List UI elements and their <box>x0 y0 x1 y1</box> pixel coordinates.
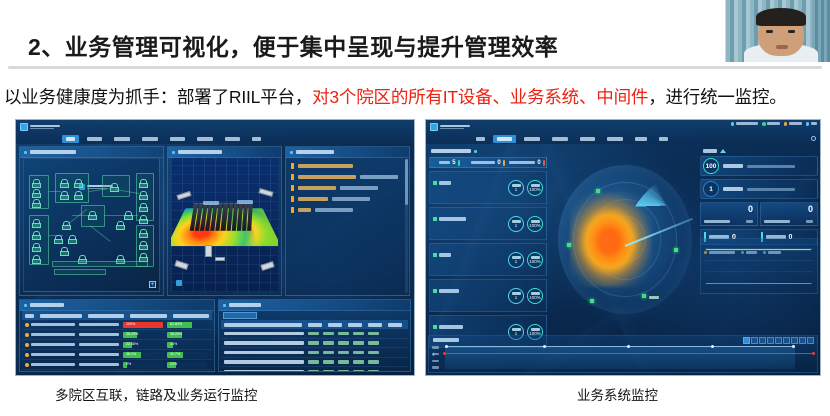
nav-item-4[interactable] <box>576 135 600 143</box>
timeline-tool-button[interactable] <box>799 337 806 344</box>
brand-mark-icon <box>430 123 438 131</box>
table-header <box>22 311 212 320</box>
badge-label <box>531 328 540 331</box>
badge-label <box>512 184 521 187</box>
bar-value: 61.84% <box>170 322 182 327</box>
memory-usage-bar: 61.84% <box>167 322 207 328</box>
link-load-table[interactable]: 100%61.84%36.29%38.20%22.68%14%46.1%41.7… <box>22 311 212 369</box>
bar-value: 36.29% <box>126 332 138 337</box>
nav-item-label <box>87 137 103 141</box>
timeline-tool-button[interactable] <box>743 337 750 344</box>
response-badge[interactable]: 100% <box>527 288 543 304</box>
cell-metric <box>323 370 334 373</box>
panel-dot-icon <box>24 304 27 307</box>
column-header <box>388 323 402 327</box>
cpu-usage-bar: 36.29% <box>123 332 163 338</box>
panel-title <box>296 150 334 154</box>
business-name <box>439 181 451 185</box>
bar-value: 23% <box>170 362 177 367</box>
brand-logo <box>20 123 60 131</box>
radar-node[interactable] <box>590 299 594 303</box>
topbar-action-label <box>811 122 817 125</box>
bar-value: 100% <box>126 322 135 327</box>
alert-row[interactable] <box>291 182 404 193</box>
body-text-prefix: 以业务健康度为抓手：部署了RIIL平台， <box>4 87 312 107</box>
topbar-action-1[interactable] <box>762 122 780 126</box>
nav-item-label <box>607 137 623 141</box>
cell-source <box>31 363 75 367</box>
total-label <box>704 220 730 224</box>
health-badge[interactable]: 1 <box>508 288 524 304</box>
view-control-button[interactable] <box>176 280 182 286</box>
column-header <box>348 323 362 327</box>
cell-destination <box>79 353 119 357</box>
score-row: 100 <box>700 156 818 176</box>
cell-metric <box>323 360 334 364</box>
list-toggle-icon[interactable] <box>474 150 477 153</box>
business-name <box>439 217 466 221</box>
radar-node[interactable] <box>674 248 678 252</box>
nav-item-label <box>66 137 75 141</box>
radar-node[interactable] <box>596 189 600 193</box>
bar-value: 38.20% <box>170 332 182 337</box>
timeline-tool-button[interactable] <box>791 337 798 344</box>
topbar-action-3[interactable] <box>806 122 817 126</box>
radar-node-label <box>649 296 659 299</box>
nav-item-label <box>170 137 186 141</box>
caption-left: 多院区互联，链路及业务运行监控 <box>55 384 258 404</box>
cell-metric <box>308 370 319 373</box>
nav-item-label <box>524 137 540 141</box>
status-square-icon <box>433 181 437 185</box>
panel-title <box>178 150 222 154</box>
timeline-tool-button[interactable] <box>807 337 814 344</box>
badge-label <box>531 292 540 295</box>
table-row[interactable]: 31.63%52% <box>22 370 212 372</box>
status-square-icon <box>433 325 437 329</box>
cell-source <box>31 343 75 347</box>
topbar-action-0[interactable] <box>731 122 758 126</box>
nav-item-5[interactable] <box>603 135 627 143</box>
panel-header <box>20 300 214 311</box>
badge-value: 1 <box>515 260 518 265</box>
table-row[interactable]: 22.68%14% <box>22 340 212 350</box>
bar-value: 22.68% <box>126 342 138 347</box>
right-dashboard-nav[interactable] <box>472 135 672 143</box>
cell-metric <box>353 370 364 373</box>
link-load-table-panel: 100%61.84%36.29%38.20%22.68%14%46.1%41.7… <box>19 299 215 372</box>
stat-indicator <box>503 160 505 166</box>
column-header <box>88 314 124 318</box>
cell-metric <box>338 370 349 373</box>
business-name <box>439 253 451 257</box>
panel-dot-icon <box>290 151 293 154</box>
table-row[interactable]: 46.1%41.7% <box>22 350 212 360</box>
topbar-action-2[interactable] <box>784 122 802 126</box>
alert-ip <box>315 208 353 212</box>
radar-node[interactable] <box>567 243 571 247</box>
business-detail-panel: 1001 00 00 <box>700 146 818 333</box>
bell-icon <box>762 122 766 126</box>
cabinet-unit <box>215 257 225 261</box>
status-dot-icon <box>25 363 29 367</box>
timeline-tool-button[interactable] <box>751 337 758 344</box>
status-square-icon <box>433 289 437 293</box>
panel-dot-icon <box>223 304 226 307</box>
badge-label <box>531 220 540 223</box>
nav-item-6[interactable] <box>221 135 245 143</box>
total-value: 0 <box>808 205 813 214</box>
alert-list[interactable] <box>288 158 407 293</box>
cell-port-name <box>224 332 304 336</box>
health-badge[interactable]: 1 <box>508 180 524 196</box>
nav-item-7[interactable] <box>655 135 672 143</box>
alert-text <box>298 175 356 179</box>
stat-label <box>471 161 495 165</box>
cell-metric <box>338 341 349 345</box>
panel-dot-icon <box>24 151 27 154</box>
gear-icon[interactable] <box>811 136 816 141</box>
detail-title <box>703 149 717 153</box>
user-icon <box>731 122 735 126</box>
table-row[interactable] <box>221 358 408 368</box>
business-name <box>439 289 459 293</box>
badge-value: 100% <box>529 260 541 265</box>
cpu-usage-bar: 100% <box>123 322 163 328</box>
badge-label <box>531 256 540 259</box>
filter-dropdown[interactable] <box>223 312 257 319</box>
panel-dot-icon <box>172 151 175 154</box>
presenter-mouth <box>776 45 788 49</box>
cell-port-name <box>224 341 304 345</box>
timeline-tool-button[interactable] <box>759 337 766 344</box>
alert-text <box>298 186 336 190</box>
cell-destination <box>79 363 119 367</box>
datacenter-3d-canvas[interactable] <box>171 158 278 292</box>
left-dashboard-screenshot: + <box>15 119 415 376</box>
nav-item-3[interactable] <box>548 135 572 143</box>
radar-node[interactable] <box>642 294 646 298</box>
latest-alerts-panel <box>285 146 410 296</box>
badge-label <box>512 328 521 331</box>
cell-metric <box>323 332 334 336</box>
detail-title-row <box>700 146 818 156</box>
table-header <box>221 320 408 329</box>
presenter-eye-right <box>788 30 795 33</box>
total-label <box>764 220 790 224</box>
cell-metric <box>353 351 364 355</box>
right-dashboard-screenshot: 500 1100%1100%1100%1100%1100% 1001 00 0 <box>425 119 821 376</box>
rack-label <box>237 200 253 204</box>
bar-fill <box>167 372 188 373</box>
cell-destination <box>79 343 119 347</box>
cell-port-name <box>224 351 304 355</box>
business-list-item[interactable]: 1100% <box>429 243 547 276</box>
panel-title <box>229 303 261 307</box>
nav-item-label <box>552 137 568 141</box>
memory-usage-bar: 38.20% <box>167 332 207 338</box>
cell-metric <box>368 351 379 355</box>
table-row[interactable] <box>221 367 408 372</box>
badge-value: 1 <box>515 224 518 229</box>
total-unit <box>806 220 813 223</box>
nav-item-2[interactable] <box>110 135 134 143</box>
brand-wordmark <box>30 125 60 130</box>
badge-label <box>512 292 521 295</box>
radar-gauge <box>549 155 701 325</box>
badge-value: 1 <box>515 296 518 301</box>
nav-item-label <box>497 137 513 141</box>
cpu-usage-bar: 9% <box>123 362 163 368</box>
nav-item-label <box>142 137 158 141</box>
presenter-video-overlay <box>725 0 830 62</box>
topbar-action-label <box>736 122 758 125</box>
presenter-hair <box>756 8 806 26</box>
rack-label <box>203 201 219 205</box>
cell-metric <box>353 332 364 336</box>
chevron-left-icon[interactable]: ‹ <box>432 350 435 359</box>
badge-label <box>512 256 521 259</box>
network-topology-panel: + <box>19 146 164 296</box>
status-stat-1[interactable]: 0 <box>469 160 508 166</box>
status-dot-icon <box>25 323 29 327</box>
cell-metric <box>323 351 334 355</box>
body-text-suffix: ，进行统一监控。 <box>648 87 786 107</box>
total-unit <box>746 220 753 223</box>
biz-list-title <box>431 149 471 153</box>
score-label <box>723 187 743 191</box>
stat-label <box>439 161 450 165</box>
severity-icon <box>291 196 294 202</box>
business-monitor-list-panel: 500 1100%1100%1100%1100%1100% <box>429 146 547 333</box>
cell-metric <box>323 341 334 345</box>
total-card: 0 <box>760 202 818 226</box>
memory-usage-bar: 52% <box>167 372 207 373</box>
health-badge[interactable]: 1 <box>508 252 524 268</box>
performance-timeline-panel[interactable]: ‹ <box>428 335 818 373</box>
badge-value: 100% <box>529 188 541 193</box>
nav-item-3[interactable] <box>138 135 162 143</box>
status-square-icon <box>433 253 437 257</box>
alerts-scrollbar[interactable] <box>405 159 408 293</box>
severity-icon <box>291 163 294 169</box>
timeline-plot[interactable] <box>445 346 795 369</box>
table-filter-row[interactable] <box>221 311 408 320</box>
table-row[interactable]: 100%61.84% <box>22 320 212 330</box>
score-label <box>723 164 743 168</box>
bar-value: 41.7% <box>170 352 180 357</box>
server-racks <box>190 203 253 231</box>
nav-item-6[interactable] <box>631 135 651 143</box>
column-header <box>40 314 82 318</box>
business-list-item[interactable]: 1100% <box>429 207 547 240</box>
column-header <box>308 323 322 327</box>
topbar-user-actions[interactable] <box>731 122 817 126</box>
alert-text <box>298 197 328 201</box>
cell-metric <box>338 351 349 355</box>
topology-zoom-in-button[interactable]: + <box>149 281 156 288</box>
cell-port-name <box>224 370 304 373</box>
topbar-action-label <box>789 122 802 125</box>
status-summary-bar[interactable]: 500 <box>429 157 547 168</box>
panel-header <box>168 147 281 158</box>
cell-source <box>31 333 75 337</box>
score-description <box>747 165 795 168</box>
nav-item-label <box>476 137 485 141</box>
column-header <box>224 323 302 327</box>
timeline-title <box>433 338 459 342</box>
business-list-item[interactable]: 1100% <box>429 279 547 312</box>
stat-value: 0 <box>537 160 540 166</box>
business-items[interactable]: 1100%1100%1100%1100%1100% <box>429 171 547 348</box>
severity-icon <box>291 207 294 213</box>
nav-item-0[interactable] <box>62 135 79 143</box>
timeline-tool-button[interactable] <box>783 337 790 344</box>
cell-source <box>31 353 75 357</box>
port-traffic-table-panel <box>218 299 411 372</box>
score-rows: 1001 <box>700 156 818 199</box>
bar-value: 14% <box>170 342 177 347</box>
status-dot-icon <box>25 353 29 357</box>
brand-mark-icon <box>20 123 28 131</box>
column-header <box>368 323 382 327</box>
status-dot-icon <box>25 343 29 347</box>
nav-item-label <box>197 137 213 141</box>
status-square-icon <box>433 217 437 221</box>
alert-row[interactable] <box>291 171 404 182</box>
cabinet-unit <box>205 245 212 257</box>
response-badge[interactable]: 100% <box>527 180 543 196</box>
stat-indicator <box>543 160 545 166</box>
table-row[interactable] <box>221 329 408 339</box>
presenter-eye-left <box>766 30 773 33</box>
detail-sparkline <box>700 238 818 294</box>
topology-canvas[interactable]: + <box>23 158 160 292</box>
cell-metric <box>308 341 319 345</box>
column-header <box>328 323 342 327</box>
alert-row[interactable] <box>291 160 404 171</box>
page-title: 2、业务管理可视化，便于集中呈现与提升管理效率 <box>28 28 558 62</box>
total-value: 0 <box>748 205 753 214</box>
status-stat-2[interactable]: 0 <box>507 160 546 166</box>
cell-metric <box>353 341 364 345</box>
timeline-toolbar[interactable] <box>743 337 814 344</box>
panel-header <box>286 147 409 158</box>
left-dashboard-nav[interactable] <box>62 135 265 143</box>
datacenter-heatmap-panel <box>167 146 282 296</box>
memory-usage-bar: 41.7% <box>167 352 207 358</box>
response-badge[interactable]: 100% <box>527 252 543 268</box>
total-card: 0 <box>700 202 758 226</box>
alert-text <box>298 208 311 212</box>
alert-event-totals: 00 <box>700 202 818 226</box>
stat-value: 0 <box>497 160 500 166</box>
body-text-highlight: 对3个院区的所有IT设备、业务系统、中间件 <box>312 87 648 107</box>
nav-item-0[interactable] <box>472 135 489 143</box>
cpu-usage-bar: 46.1% <box>123 352 163 358</box>
brand-logo <box>430 123 470 131</box>
timeline-tool-button[interactable] <box>767 337 774 344</box>
alert-ip <box>340 186 378 190</box>
panel-header <box>20 147 163 158</box>
table-row[interactable]: 9%23% <box>22 360 212 370</box>
cpu-usage-bar: 22.68% <box>123 342 163 348</box>
topbar-action-label <box>767 122 780 125</box>
alert-ip <box>360 175 398 179</box>
score-description <box>747 188 795 191</box>
business-list-item[interactable]: 1100% <box>429 171 547 204</box>
severity-icon <box>291 174 294 180</box>
response-badge[interactable]: 100% <box>527 216 543 232</box>
alert-row[interactable] <box>291 204 404 215</box>
cell-source <box>31 323 75 327</box>
nav-item-1[interactable] <box>83 135 107 143</box>
status-stat-0[interactable]: 5 <box>430 160 469 166</box>
panel-header <box>219 300 410 311</box>
left-dashboard-topbar <box>16 120 414 144</box>
nav-item-label <box>580 137 596 141</box>
column-header <box>25 314 34 318</box>
panel-title <box>30 303 64 307</box>
cell-metric <box>338 360 349 364</box>
bar-value: 9% <box>126 362 131 367</box>
score-row: 1 <box>700 179 818 199</box>
nav-item-5[interactable] <box>193 135 217 143</box>
alert-text <box>298 164 353 168</box>
port-traffic-table[interactable] <box>221 311 408 369</box>
cell-port-name <box>224 360 304 364</box>
nav-item-4[interactable] <box>166 135 190 143</box>
stat-label <box>509 161 536 165</box>
biz-list-header <box>429 146 547 156</box>
timeline-tool-button[interactable] <box>775 337 782 344</box>
badge-value: 100% <box>529 296 541 301</box>
table-row[interactable] <box>221 339 408 349</box>
cell-destination <box>79 323 119 327</box>
nav-item-label <box>225 137 241 141</box>
sparkline-svg <box>701 239 817 293</box>
table-row[interactable] <box>221 348 408 358</box>
brand-wordmark <box>440 125 470 130</box>
health-badge[interactable]: 1 <box>508 216 524 232</box>
nav-item-1[interactable] <box>493 135 517 143</box>
nav-item-7[interactable] <box>248 135 265 143</box>
threshold-line <box>445 353 815 354</box>
alert-row[interactable] <box>291 193 404 204</box>
badge-label <box>512 220 521 223</box>
logout-icon <box>806 122 810 126</box>
bar-fill <box>123 372 135 373</box>
nav-item-2[interactable] <box>520 135 544 143</box>
cell-metric <box>308 332 319 336</box>
column-header <box>130 314 166 318</box>
badge-value: 1 <box>515 188 518 193</box>
nav-item-label <box>659 137 668 141</box>
badge-value: 100% <box>529 224 541 229</box>
radar-visualization-panel[interactable] <box>552 146 698 333</box>
cell-metric <box>368 370 379 373</box>
body-text: 以业务健康度为抓手：部署了RIIL平台，对3个院区的所有IT设备、业务系统、中间… <box>4 84 787 109</box>
cell-metric <box>308 360 319 364</box>
nav-item-label <box>114 137 130 141</box>
help-icon <box>784 122 788 126</box>
cell-metric <box>338 332 349 336</box>
badge-label <box>531 184 540 187</box>
stat-value: 5 <box>452 160 455 166</box>
table-row[interactable]: 36.29%38.20% <box>22 330 212 340</box>
memory-usage-bar: 14% <box>167 342 207 348</box>
title-divider <box>8 66 822 69</box>
